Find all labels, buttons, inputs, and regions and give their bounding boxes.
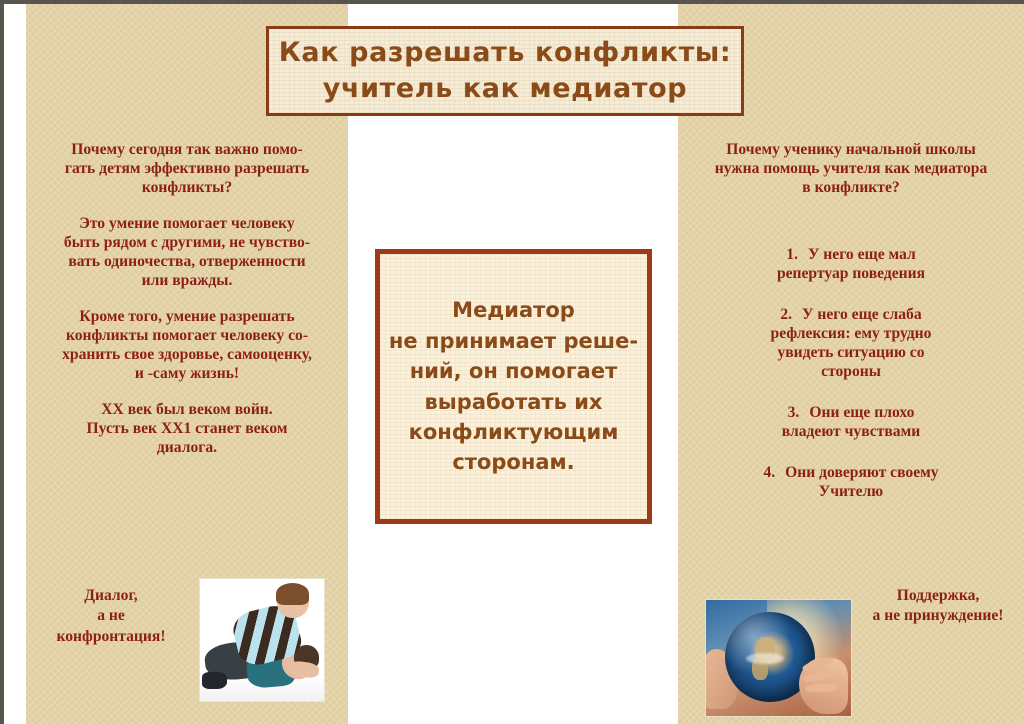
right-text-column: Почему ученику начальной школы нужна пом… [678,140,1024,523]
title-line-2: учитель как медиатор [323,71,687,107]
list-item: 4.Они доверяют своему Учителю [678,463,1024,501]
left-edge-strip [0,0,4,724]
poster-canvas: Как разрешать конфликты: учитель как мед… [0,0,1024,724]
photo-upper-boy-hair [276,583,309,605]
mediator-statement-text: Медиатор не принимает реше- ний, он помо… [381,295,646,478]
photo-lower-boy-shoe [202,672,227,689]
left-text-column: Почему сегодня так важно помо- гать детя… [26,140,348,457]
right-column-heading: Почему ученику начальной школы нужна пом… [678,140,1024,197]
left-paragraph-2: Это умение помогает человеку быть рядом … [26,214,348,290]
photo-cloud-band [746,653,784,664]
list-item-number: 3. [788,404,800,421]
list-item: 2.У него еще слаба рефлексия: ему трудно… [678,305,1024,381]
left-caption: Диалог, а не конфронтация! [36,586,186,647]
left-paragraph-3: Кроме того, умение разрешать конфликты п… [26,307,348,383]
right-caption: Поддержка, а не принуждение! [860,586,1016,627]
list-item-text: У него еще мал репертуар поведения [777,246,925,282]
left-paragraph-1: Почему сегодня так важно помо- гать детя… [26,140,348,197]
left-paragraph-4: XX век был веком войн. Пусть век XX1 ста… [26,400,348,457]
list-item-number: 2. [780,306,792,323]
two-boys-wrestling-photo [199,578,325,702]
top-right-background-panel [744,4,1024,134]
list-item-text: У него еще слаба рефлексия: ему трудно у… [771,306,932,380]
mediator-statement-box: Медиатор не принимает реше- ний, он помо… [375,249,652,524]
list-item: 3.Они еще плохо владеют чувствами [678,403,1024,441]
list-item: 1.У него еще мал репертуар поведения [678,245,1024,283]
title-line-1: Как разрешать конфликты: [279,35,732,71]
poster-title-box: Как разрешать конфликты: учитель как мед… [266,26,744,116]
list-item-text: Они еще плохо владеют чувствами [782,404,920,440]
list-item-number: 1. [786,246,798,263]
list-item-text: Они доверяют своему Учителю [785,464,938,500]
list-item-number: 4. [763,464,775,481]
hands-holding-earth-globe-photo [705,599,852,717]
